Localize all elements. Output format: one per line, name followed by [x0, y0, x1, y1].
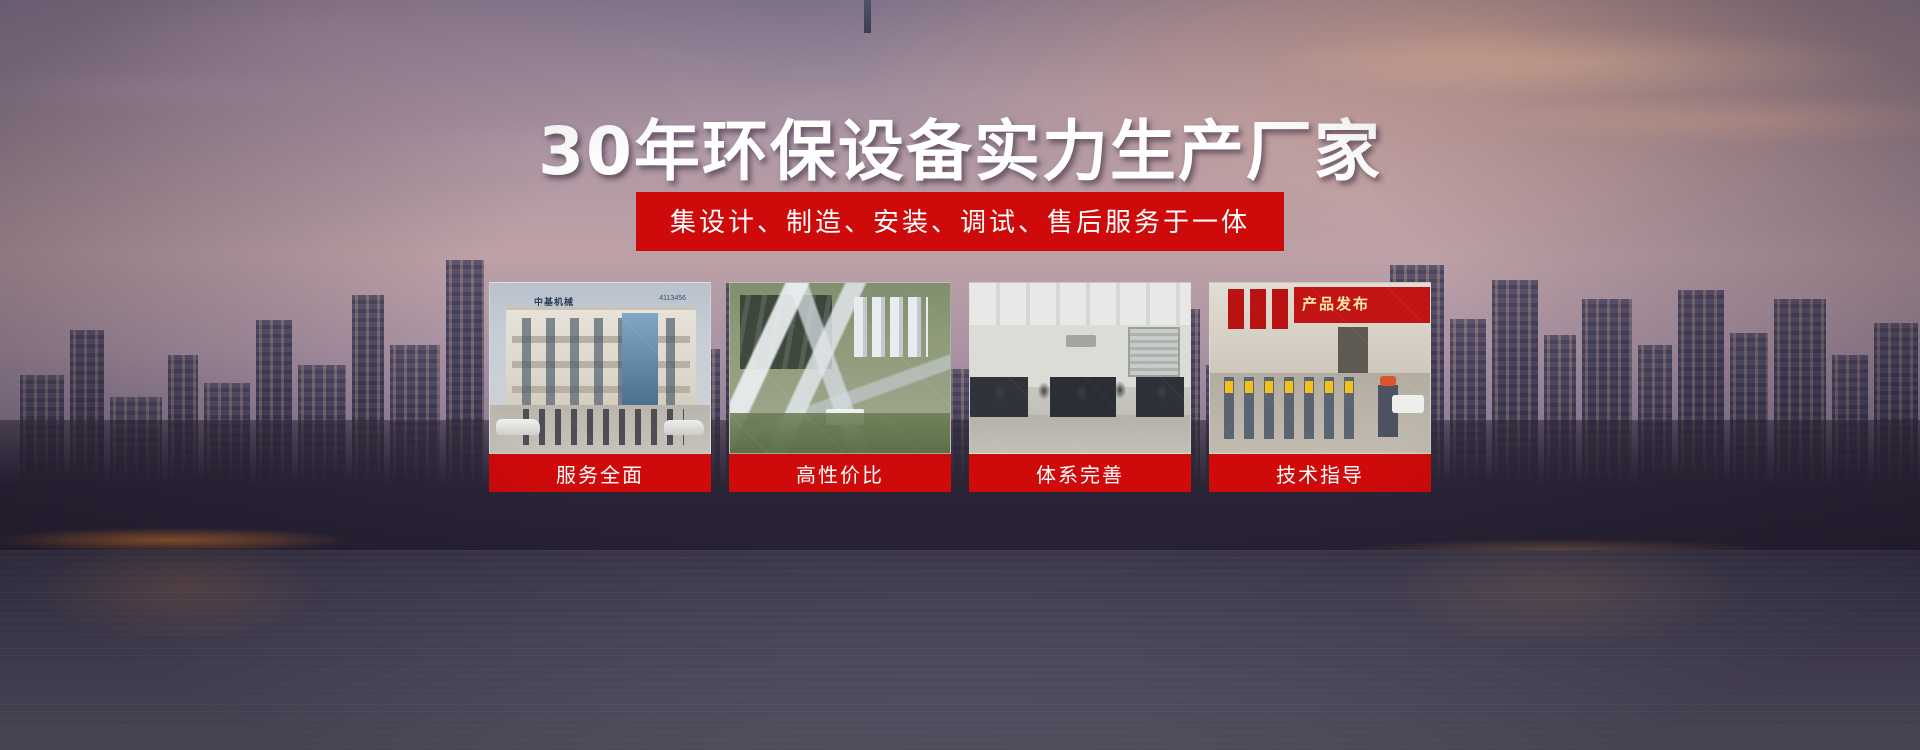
subtitle-bar: 集设计、制造、安装、调试、售后服务于一体 — [636, 192, 1284, 251]
aerial-factory-plant-photo — [729, 282, 951, 454]
subtitle-bar-wrap: 集设计、制造、安装、调试、售后服务于一体 — [0, 192, 1920, 251]
feature-card-caption: 体系完善 — [969, 454, 1191, 492]
page-title: 30年环保设备实力生产厂家 — [0, 98, 1920, 194]
feature-card[interactable]: 中基机械 4113456 服务全面 — [489, 282, 711, 492]
feature-card-caption: 技术指导 — [1209, 454, 1431, 492]
feature-card-list: 中基机械 4113456 服务全面 高性价比 — [0, 282, 1920, 492]
water-reflection-glow — [0, 550, 1920, 750]
building-sign-secondary: 4113456 — [659, 295, 686, 302]
feature-card[interactable]: 产品发布 技术指导 — [1209, 282, 1431, 492]
feature-card-caption: 高性价比 — [729, 454, 951, 492]
factory-banner-text: 产品发布 — [1302, 293, 1370, 314]
feature-card[interactable]: 体系完善 — [969, 282, 1191, 492]
hero-banner: 30年环保设备实力生产厂家 集设计、制造、安装、调试、售后服务于一体 中基机械 … — [0, 0, 1920, 750]
feature-card-caption: 服务全面 — [489, 454, 711, 492]
factory-workers-training-photo: 产品发布 — [1209, 282, 1431, 454]
feature-card[interactable]: 高性价比 — [729, 282, 951, 492]
building-sign-text: 中基机械 — [534, 295, 574, 308]
office-staff-interior-photo — [969, 282, 1191, 454]
company-office-building-photo: 中基机械 4113456 — [489, 282, 711, 454]
